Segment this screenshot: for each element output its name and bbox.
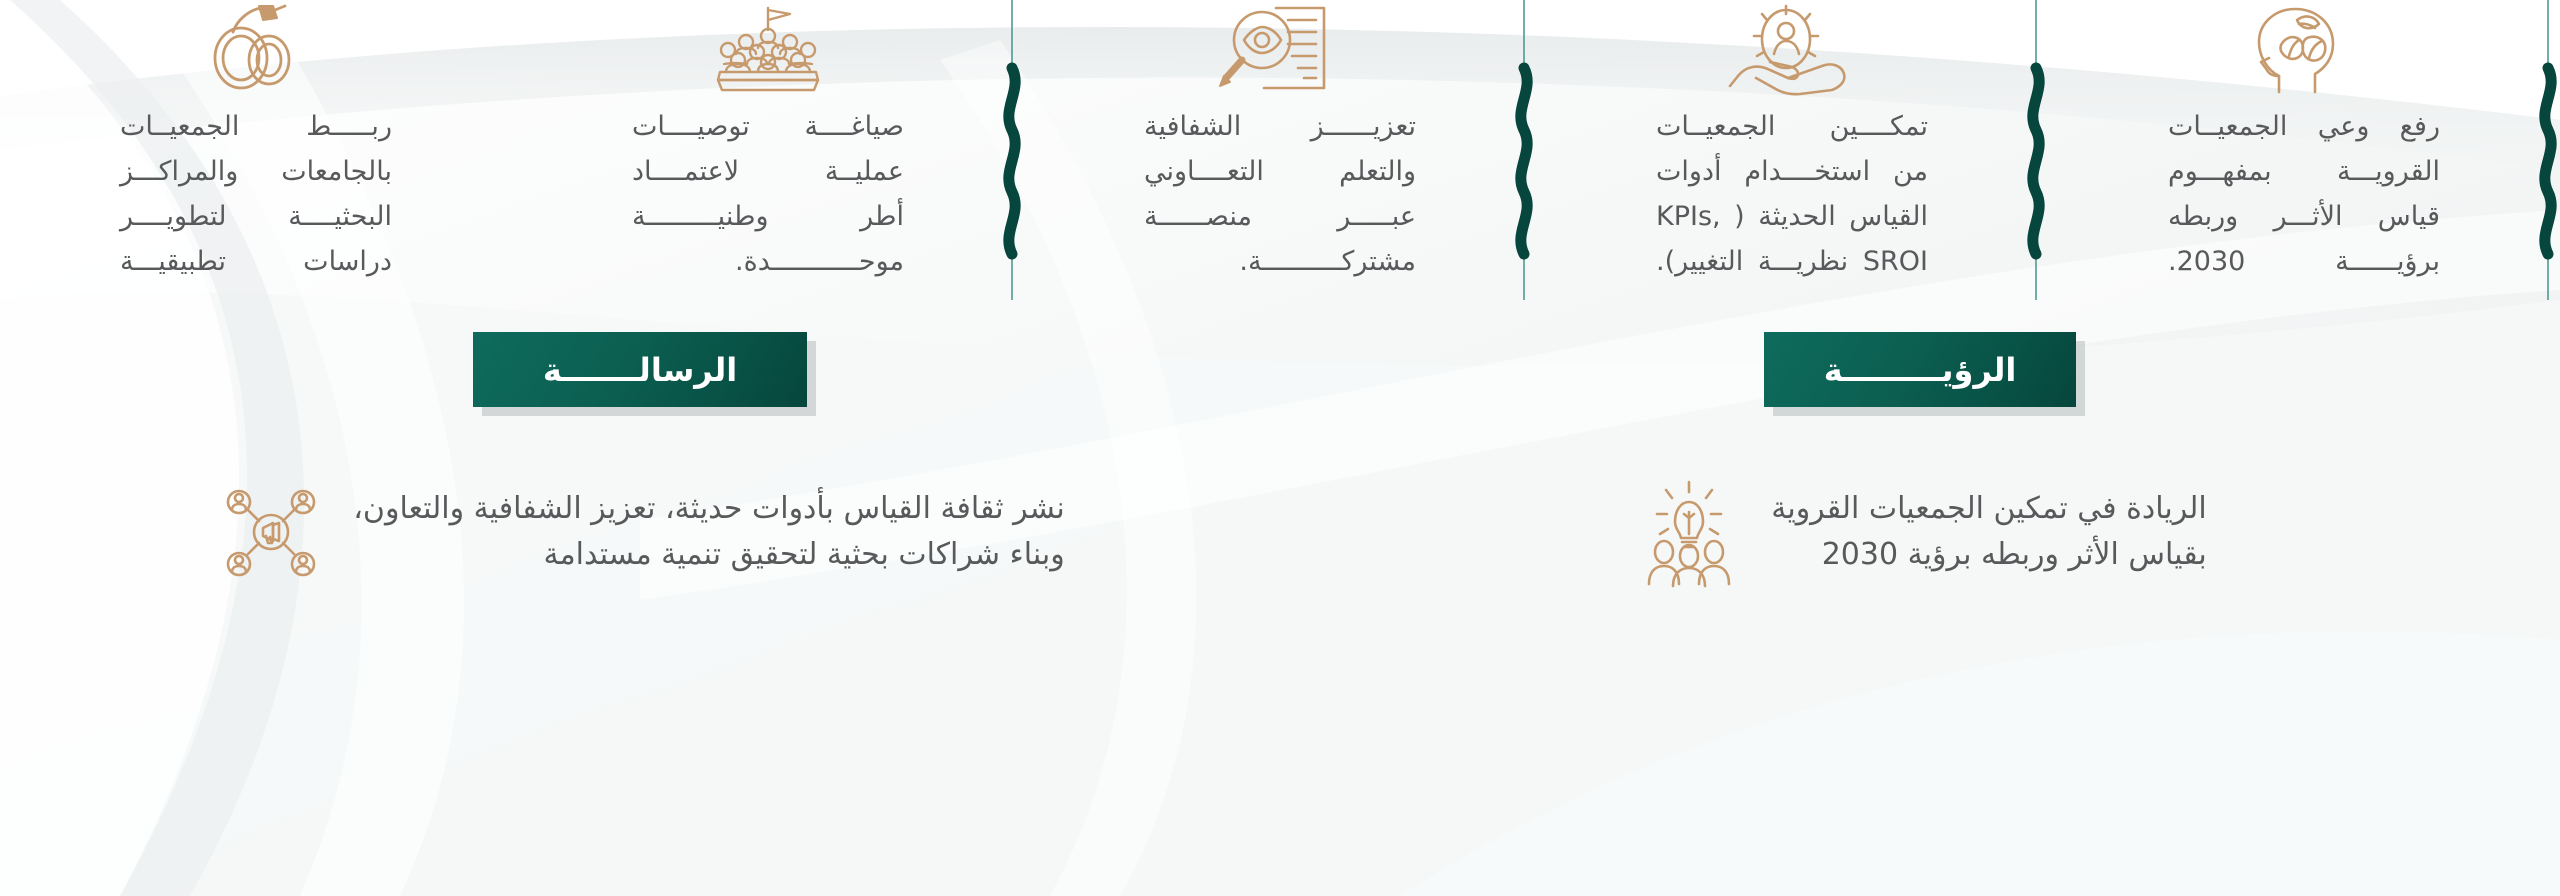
objective-column-1: رفع وعي الجمعيــات القرويـــة بمفهـــوم …	[2048, 0, 2560, 300]
vision-title: الرؤيـــــــــة	[1824, 351, 2017, 389]
objective-line: برؤيــــــة 2030.	[2168, 239, 2440, 284]
objective-text-4: صياغــــة توصيــــات عمليــة لاعتمــــاد…	[632, 104, 904, 284]
objective-column-3: تعزيــــــز الشفافية والتعلم التعــــاون…	[1024, 0, 1536, 300]
objective-line: القياس الحديثة ( ,KPIs	[1656, 194, 1928, 239]
column-divider-2	[2046, 0, 2049, 300]
objective-line: بالجامعات والمراكـــز	[120, 149, 392, 194]
magnifier-document-eye-icon	[1218, 4, 1342, 96]
objective-line: من استخــــدام أدوات	[1656, 149, 1928, 194]
objective-line: رفع وعي الجمعيــات	[2168, 104, 2440, 149]
mission-body-row: نشر ثقافة القياس بأدوات حديثة، تعزيز الش…	[0, 476, 1280, 588]
vision-block: الرؤيـــــــــة الريادة في تمكين الجمعيا…	[1280, 300, 2560, 896]
vision-mission-section: الرؤيـــــــــة الريادة في تمكين الجمعيا…	[0, 300, 2560, 896]
megaphone-network-icon	[215, 476, 327, 588]
objective-line: عبـــــر منصــــــة	[1144, 194, 1416, 239]
objective-line: مشتركــــــــــة.	[1144, 239, 1416, 284]
objective-line: عمليــة لاعتمــــاد	[632, 149, 904, 194]
vision-title-wrap: الرؤيـــــــــة	[1280, 300, 2560, 407]
vision-line: بقياس الأثر وربطه برؤية 2030	[1771, 532, 2206, 578]
mission-title-box: الرسالـــــــة	[473, 332, 807, 407]
column-divider-4	[1022, 0, 1025, 300]
objective-line: قياس الأثـــر وربطه	[2168, 194, 2440, 239]
objective-line: موحـــــــــــدة.	[632, 239, 904, 284]
infographic-page: { "colors": { "teal_dark": "#06463c", "t…	[0, 0, 2560, 896]
objectives-row: رفع وعي الجمعيــات القرويـــة بمفهـــوم …	[0, 0, 2560, 300]
hand-person-idea-icon	[1726, 4, 1858, 96]
objective-line: والتعلم التعــــاوني	[1144, 149, 1416, 194]
vision-line: الريادة في تمكين الجمعيات القروية	[1771, 486, 2206, 532]
vision-text: الريادة في تمكين الجمعيات القروية بقياس …	[1771, 486, 2206, 578]
linked-rings-pen-icon	[197, 4, 315, 96]
lightbulb-people-icon	[1633, 476, 1745, 588]
objective-line: القرويـــة بمفهـــوم	[2168, 149, 2440, 194]
head-leaves-icon	[2245, 4, 2363, 96]
objective-line: SROI نظريـــة التغيير).	[1656, 239, 1928, 284]
mission-line: وبناء شراكات بحثية لتحقيق تنمية مستدامة	[353, 532, 1065, 578]
mission-title: الرسالـــــــة	[543, 351, 737, 389]
objective-text-3: تعزيــــــز الشفافية والتعلم التعــــاون…	[1144, 104, 1416, 284]
objective-line: تمكــــين الجمعيــات	[1656, 104, 1928, 149]
mission-block: الرسالـــــــة نشر ثقافة القياس بأدوات ح…	[0, 300, 1280, 896]
column-divider-3	[1534, 0, 1537, 300]
objective-text-5: ربـــــط الجمعيــات بالجامعات والمراكـــ…	[120, 104, 392, 284]
objective-column-4: صياغــــة توصيــــات عمليــة لاعتمــــاد…	[512, 0, 1024, 300]
objective-line: دراسات تطبيقيـــة	[120, 239, 392, 284]
vision-title-box: الرؤيـــــــــة	[1764, 332, 2076, 407]
mission-title-wrap: الرسالـــــــة	[0, 300, 1280, 407]
objective-line: ربـــــط الجمعيــات	[120, 104, 392, 149]
objective-line: أطر وطنيـــــــــة	[632, 194, 904, 239]
mission-text: نشر ثقافة القياس بأدوات حديثة، تعزيز الش…	[353, 486, 1065, 578]
objective-text-1: رفع وعي الجمعيــات القرويـــة بمفهـــوم …	[2168, 104, 2440, 284]
objective-line: تعزيــــــز الشفافية	[1144, 104, 1416, 149]
objective-text-2: تمكــــين الجمعيــات من استخــــدام أدوا…	[1656, 104, 1928, 284]
objective-line: صياغــــة توصيــــات	[632, 104, 904, 149]
objective-column-2: تمكــــين الجمعيــات من استخــــدام أدوا…	[1536, 0, 2048, 300]
mission-line: نشر ثقافة القياس بأدوات حديثة، تعزيز الش…	[353, 486, 1065, 532]
objective-line: البحثيــــة لتطويــــر	[120, 194, 392, 239]
people-group-flag-icon	[706, 4, 830, 96]
vision-body-row: الريادة في تمكين الجمعيات القروية بقياس …	[1280, 476, 2560, 588]
objective-column-5: ربـــــط الجمعيــات بالجامعات والمراكـــ…	[0, 0, 512, 300]
